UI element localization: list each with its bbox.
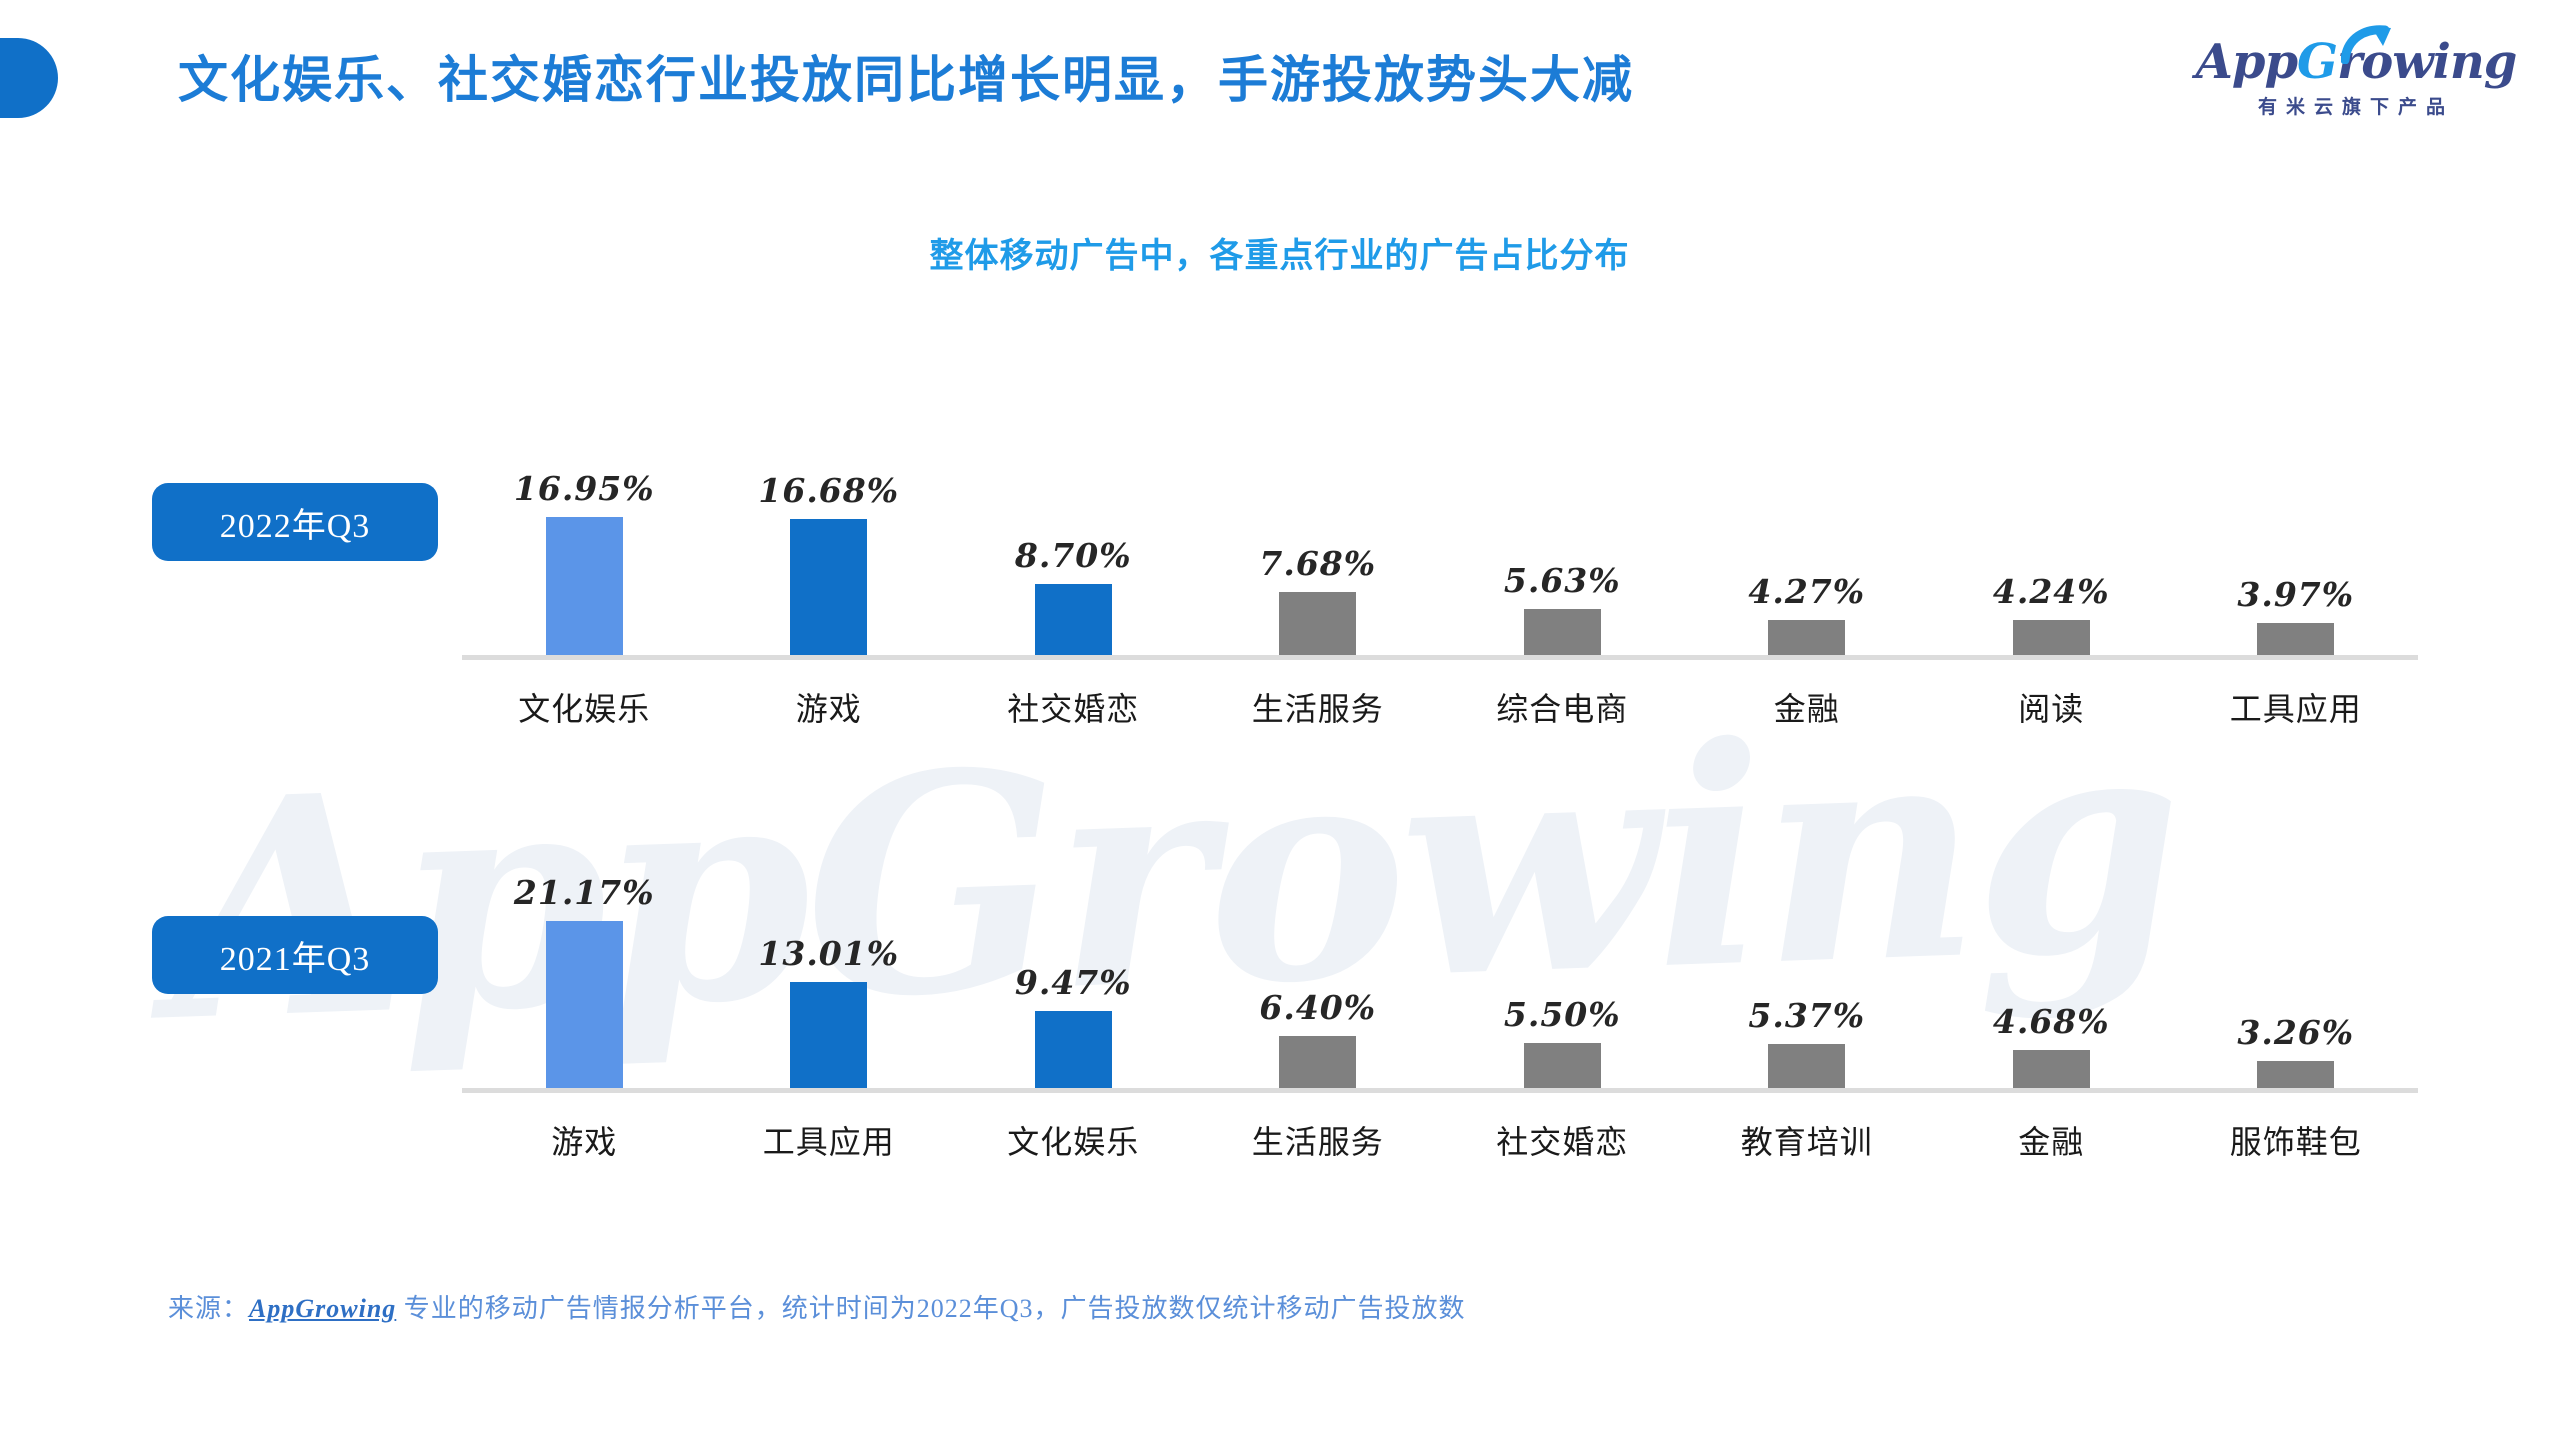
bar-value-label: 16.95% [514,469,655,508]
bar-rect[interactable] [1524,1043,1601,1088]
bar-rect[interactable] [2013,1050,2090,1088]
category-label: 金融 [1685,684,1930,730]
bar-value-label: 9.47% [1015,963,1132,1002]
plot-area-2022q3: 16.95%16.68%8.70%7.68%5.63%4.27%4.24%3.9… [462,440,2418,740]
bar-value-label: 5.63% [1504,561,1621,600]
category-label: 游戏 [462,1117,707,1163]
bar-slot: 16.95% [462,440,707,655]
source-prefix: 来源： [168,1294,249,1323]
bar-value-label: 4.27% [1748,572,1865,611]
category-label: 工具应用 [707,1117,952,1163]
bar-slot: 3.26% [2174,873,2419,1088]
chart-subtitle: 整体移动广告中，各重点行业的广告占比分布 [0,228,2559,277]
category-label: 文化娱乐 [951,1117,1196,1163]
bar-slot: 13.01% [707,873,952,1088]
bar-slot: 5.63% [1440,440,1685,655]
bar-rect[interactable] [1524,609,1601,655]
bar-slot: 9.47% [951,873,1196,1088]
bar-slot: 4.24% [1929,440,2174,655]
category-labels-2021q3: 游戏工具应用文化娱乐生活服务社交婚恋教育培训金融服饰鞋包 [462,1117,2418,1163]
bar-rect[interactable] [1279,1036,1356,1088]
bar-value-label: 6.40% [1259,988,1376,1027]
category-labels-2022q3: 文化娱乐游戏社交婚恋生活服务综合电商金融阅读工具应用 [462,684,2418,730]
bar-value-label: 5.37% [1748,996,1865,1035]
bar-rect[interactable] [1279,592,1356,655]
axis-line [462,1088,2418,1093]
source-rest: 专业的移动广告情报分析平台，统计时间为2022年Q3，广告投放数仅统计移动广告投… [396,1294,1465,1323]
bar-group-2022q3: 16.95%16.68%8.70%7.68%5.63%4.27%4.24%3.9… [462,440,2418,655]
category-label: 生活服务 [1196,684,1441,730]
bar-slot: 21.17% [462,873,707,1088]
category-label: 服饰鞋包 [2174,1117,2419,1163]
bar-rect[interactable] [2257,623,2334,655]
category-label: 金融 [1929,1117,2174,1163]
axis-line [462,655,2418,660]
bar-value-label: 13.01% [758,934,899,973]
bar-value-label: 16.68% [758,471,899,510]
brand-word-g: G [2297,34,2337,90]
bar-slot: 8.70% [951,440,1196,655]
bar-value-label: 4.68% [1993,1002,2110,1041]
growth-arrow-icon [2341,24,2393,64]
category-label: 工具应用 [2174,684,2419,730]
bar-rect[interactable] [2013,620,2090,655]
period-badge-2021q3[interactable]: 2021年Q3 [152,916,438,994]
bar-value-label: 21.17% [514,873,655,912]
brand-subtitle: 有米云旗下产品 [2191,92,2521,119]
category-label: 综合电商 [1440,684,1685,730]
bar-value-label: 7.68% [1259,544,1376,583]
bar-rect[interactable] [1035,584,1112,655]
bar-slot: 16.68% [707,440,952,655]
bar-slot: 6.40% [1196,873,1441,1088]
bar-slot: 5.37% [1685,873,1930,1088]
bar-slot: 4.27% [1685,440,1930,655]
category-label: 文化娱乐 [462,684,707,730]
category-label: 教育培训 [1685,1117,1930,1163]
bar-slot: 3.97% [2174,440,2419,655]
category-label: 生活服务 [1196,1117,1441,1163]
category-label: 社交婚恋 [951,684,1196,730]
category-label: 游戏 [707,684,952,730]
brand-word-app: App [2196,34,2297,90]
bar-value-label: 4.24% [1993,572,2110,611]
bar-group-2021q3: 21.17%13.01%9.47%6.40%5.50%5.37%4.68%3.2… [462,873,2418,1088]
bar-value-label: 5.50% [1504,995,1621,1034]
page-title: 文化娱乐、社交婚恋行业投放同比增长明显，手游投放势头大减 [178,40,1634,112]
bar-rect[interactable] [1768,1044,1845,1088]
brand-wordmark: AppGrowing [2191,38,2521,86]
bar-rect[interactable] [1768,620,1845,655]
bar-slot: 5.50% [1440,873,1685,1088]
bar-value-label: 3.26% [2237,1013,2354,1052]
bar-rect[interactable] [790,982,867,1088]
plot-area-2021q3: 21.17%13.01%9.47%6.40%5.50%5.37%4.68%3.2… [462,873,2418,1173]
category-label: 社交婚恋 [1440,1117,1685,1163]
decorative-left-pill [0,38,58,118]
bar-rect[interactable] [2257,1061,2334,1088]
bar-rect[interactable] [790,519,867,655]
bar-value-label: 8.70% [1015,536,1132,575]
period-badge-2022q3[interactable]: 2022年Q3 [152,483,438,561]
bar-slot: 4.68% [1929,873,2174,1088]
bar-value-label: 3.97% [2237,575,2354,614]
bar-rect[interactable] [546,921,623,1088]
category-label: 阅读 [1929,684,2174,730]
appgrowing-logo: AppGrowing 有米云旗下产品 [2191,38,2521,119]
bar-slot: 7.68% [1196,440,1441,655]
bar-rect[interactable] [1035,1011,1112,1088]
bar-rect[interactable] [546,517,623,655]
source-brand-link[interactable]: AppGrowing [249,1294,396,1323]
source-note: 来源：AppGrowing 专业的移动广告情报分析平台，统计时间为2022年Q3… [168,1288,1466,1325]
